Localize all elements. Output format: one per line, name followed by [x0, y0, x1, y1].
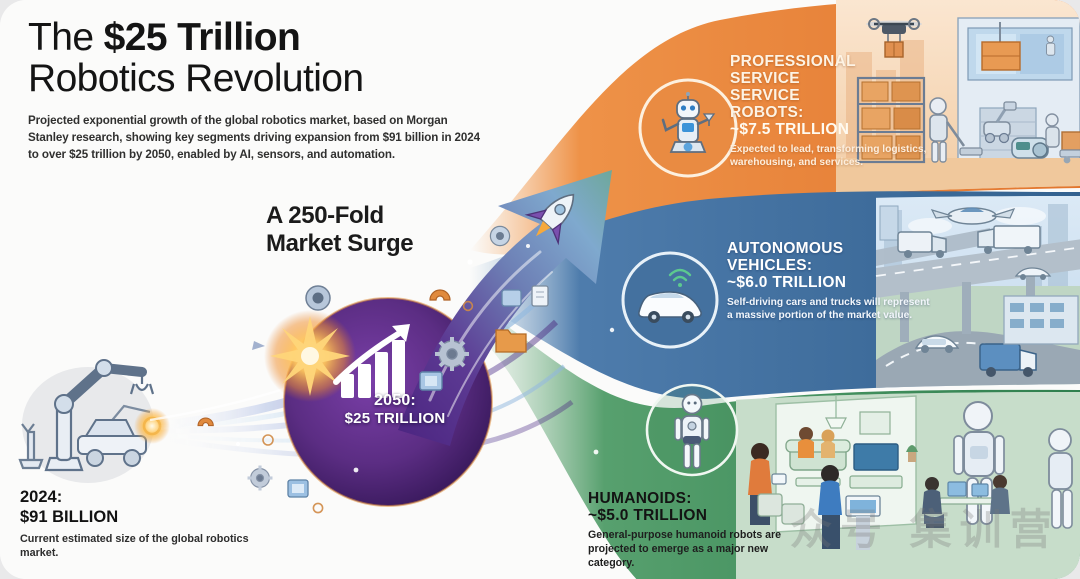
market-surge-label: A 250-Fold Market Surge: [266, 202, 496, 259]
surge-line-2: Market Surge: [266, 230, 496, 258]
chip-icon: [502, 290, 521, 306]
chip-icon: [420, 372, 442, 390]
segment-description: Expected to lead, transforming logistics…: [730, 143, 940, 170]
title-line-1: The $25 Trillion: [28, 18, 498, 57]
page-subtitle: Projected exponential growth of the glob…: [28, 112, 480, 163]
segment-description: Self-driving cars and trucks will repres…: [727, 296, 935, 323]
title-line-2: Robotics Revolution: [28, 57, 498, 101]
year-2050-callout: 2050: $25 TRILLION: [330, 392, 460, 427]
service-robot-icon: [640, 80, 736, 176]
chip-icon: [288, 480, 308, 497]
page-title: The $25 Trillion Robotics Revolution Pro…: [28, 18, 498, 163]
segment-head-line-1: HUMANOIDS:: [588, 490, 803, 507]
segment-head-line-4: ROBOTS:: [730, 104, 940, 121]
year-2024-description: Current estimated size of the global rob…: [20, 532, 250, 561]
title-amount: $25 Trillion: [104, 16, 301, 59]
segment-description: General-purpose humanoid robots are proj…: [588, 529, 803, 570]
segment-amount: ~$5.0 TRILLION: [588, 507, 803, 525]
infographic-card: The $25 Trillion Robotics Revolution Pro…: [0, 0, 1080, 579]
segment-amount: ~$7.5 TRILLION: [730, 121, 940, 139]
segment-amount: ~$6.0 TRILLION: [727, 274, 935, 292]
segment-label-humanoids: HUMANOIDS: ~$5.0 TRILLION General-purpos…: [588, 490, 803, 570]
segment-head-line-1: AUTONOMOUS: [727, 240, 935, 257]
segment-head-line-1: PROFESSIONAL: [730, 53, 940, 70]
year-2050-label: 2050:: [330, 392, 460, 410]
year-2050-value: $25 TRILLION: [330, 410, 460, 427]
surge-line-1: A 250-Fold: [266, 202, 496, 230]
year-2024-callout: 2024: $91 BILLION Current estimated size…: [20, 488, 250, 560]
humanoid-robot-icon: [647, 385, 737, 475]
segment-label-autonomous-vehicles: AUTONOMOUS VEHICLES: ~$6.0 TRILLION Self…: [727, 240, 935, 323]
camera-lens-icon: [306, 286, 330, 310]
connected-car-icon: [623, 253, 717, 347]
year-2024-label: 2024:: [20, 488, 250, 508]
title-prefix: The: [28, 16, 104, 59]
segment-label-professional-service-robots: PROFESSIONAL SERVICE SERVICE ROBOTS: ~$7…: [730, 53, 940, 170]
document-icon: [532, 286, 548, 306]
segment-head-line-3: SERVICE: [730, 87, 940, 104]
year-2024-value: $91 BILLION: [20, 508, 250, 528]
gear-icon: [435, 337, 469, 371]
segment-head-line-2: SERVICE: [730, 70, 940, 87]
segment-head-line-2: VEHICLES:: [727, 257, 935, 274]
